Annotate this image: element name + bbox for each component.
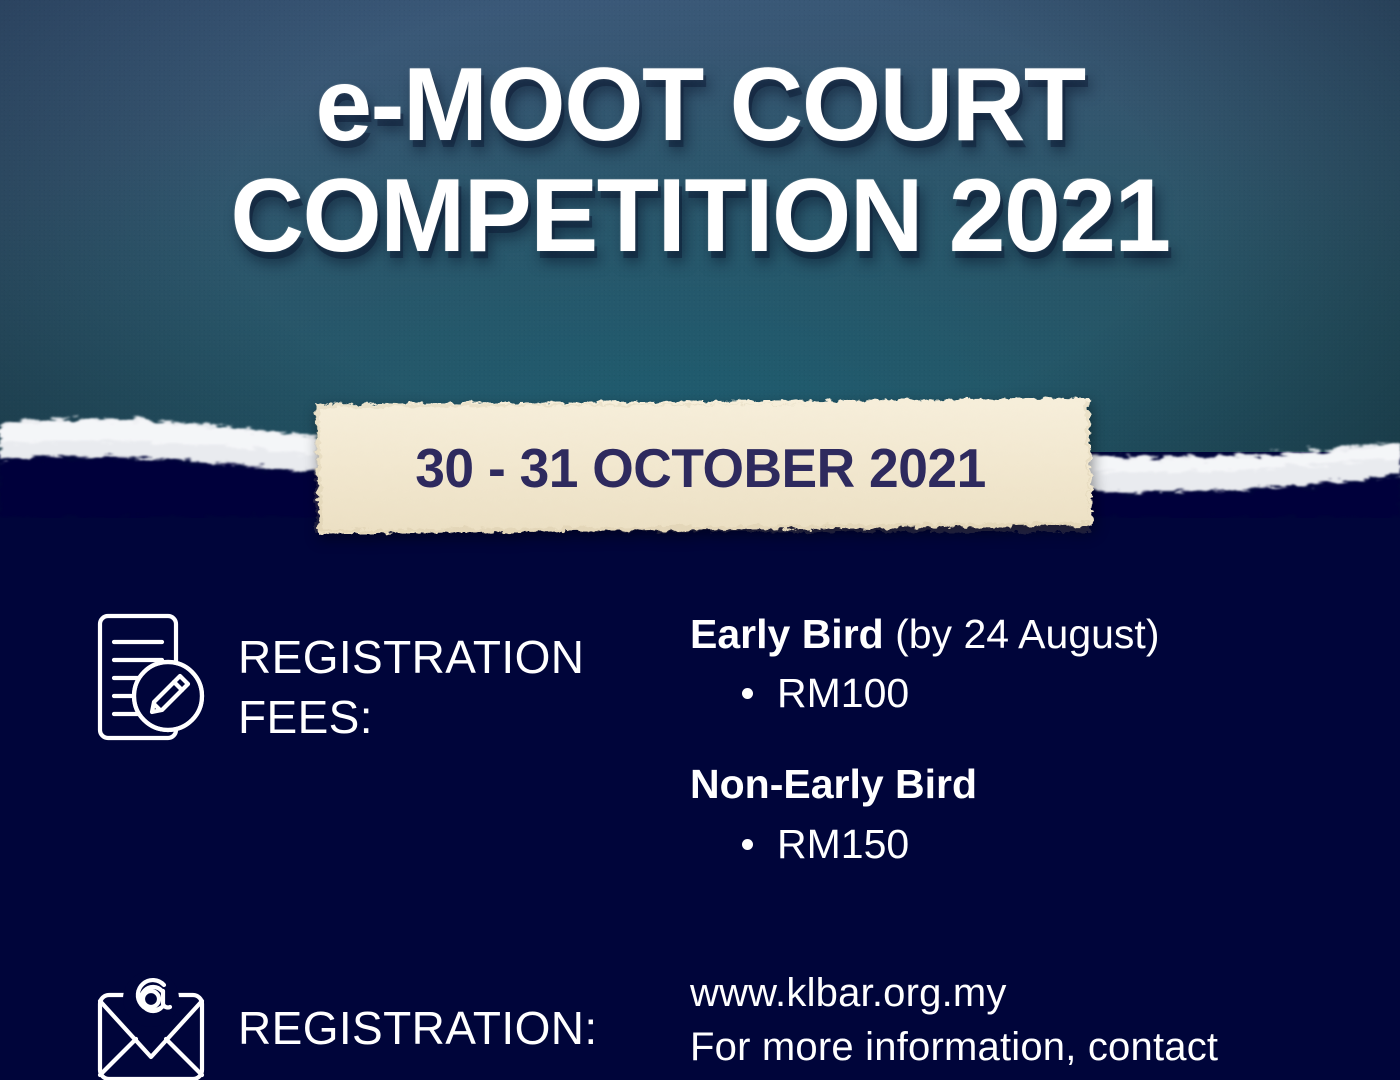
fee-tier-name: Early Bird [690,611,884,657]
registration-fees-details: Early Bird (by 24 August) RM100 Non-Earl… [660,610,1400,869]
registration-fees-label-line-2: FEES: [238,691,373,743]
registration-fees-label: REGISTRATION FEES: [224,610,584,748]
title-line-1: e-MOOT COURT [14,52,1386,159]
date-banner-text: 30 - 31 OCTOBER 2021 [315,392,1086,540]
poster-title: e-MOOT COURT COMPETITION 2021 [0,52,1400,270]
contact-website[interactable]: www.klbar.org.my [690,969,1400,1017]
registration-label: REGISTRATION: [224,999,598,1059]
fee-amount-item: RM100 [742,669,1400,718]
registration-contact-row: REGISTRATION: www.klbar.org.my For more … [0,869,1400,1080]
contact-info-text: For more information, contact [690,1023,1400,1071]
fee-tier-name: Non-Early Bird [690,761,977,807]
document-pencil-icon [92,610,224,748]
fee-amount: RM100 [777,669,909,718]
info-block: REGISTRATION FEES: Early Bird (by 24 Aug… [0,560,1400,1080]
fee-amount-item: RM150 [742,820,1400,869]
registration-fees-label-group: REGISTRATION FEES: [0,610,660,748]
registration-fees-label-line-1: REGISTRATION [238,631,584,683]
registration-fees-row: REGISTRATION FEES: Early Bird (by 24 Aug… [0,560,1400,869]
date-banner: 30 - 31 OCTOBER 2021 [303,392,1098,540]
fee-tier-heading: Early Bird (by 24 August) [690,610,1400,659]
poster-canvas: e-MOOT COURT COMPETITION 2021 [0,0,1400,1080]
fee-tier-heading: Non-Early Bird [690,760,1400,809]
fee-tier-note: (by 24 August) [884,611,1160,657]
registration-label-group: REGISTRATION: [0,969,660,1080]
fee-group-spacer [690,718,1400,760]
title-line-2: COMPETITION 2021 [14,163,1386,270]
envelope-at-icon [92,969,224,1080]
registration-contact-details: www.klbar.org.my For more information, c… [660,969,1400,1080]
fee-amount: RM150 [777,820,909,869]
bullet-dot-icon [742,839,753,850]
bullet-dot-icon [742,688,753,699]
